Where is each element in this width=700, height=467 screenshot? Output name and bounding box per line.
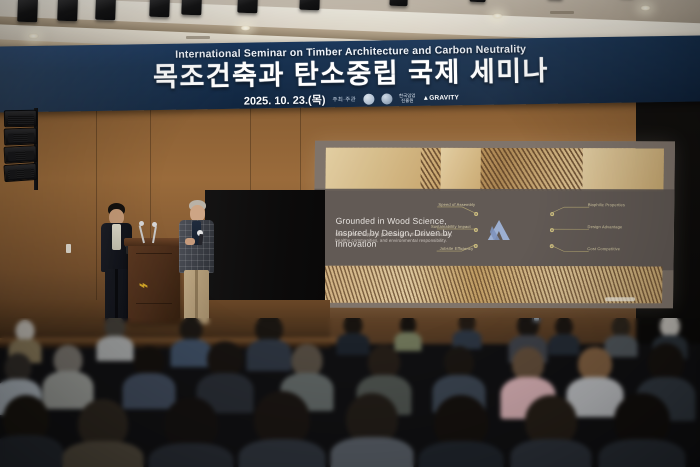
slide-photo-light-fixture [605,297,635,301]
mountain-mark-logo [484,217,514,241]
korea-forest-service-logo [363,93,374,104]
lectern-mic-head [139,221,144,226]
speaker-shirt [112,224,121,250]
audience-member [598,397,686,467]
recessed-downlight [640,5,651,11]
slide-node-dot [550,228,554,232]
audience-section [0,318,700,467]
institution-emblem: ⌁ [139,277,153,295]
slide-body-text: Mass timber supports good design, effici… [335,232,454,245]
stage-spotlight [95,0,116,20]
wood-slat-ceiling-photo [324,266,663,303]
audience-member [62,401,144,467]
banner-host-label: 주최·주관 [332,95,356,103]
audience-member [510,399,592,467]
ceiling-vent [186,36,210,39]
mass-timber-ceiling-photo [325,147,664,191]
slide-node-label-design-advantage: Design Advantage [588,224,623,229]
trouser-gap [195,270,198,323]
audience-member [0,399,64,467]
slide-node-label-jobsite-efficiency: Jobsite Efficiency [440,246,474,251]
projection-screen: Grounded in Wood Science, Inspired by De… [313,141,675,309]
slide-node-label-speed-of-assembly: Speed of Assembly [438,202,475,207]
stage-spotlight [237,0,258,13]
slide-node-dot [474,244,478,248]
stage-spotlight [149,0,170,17]
audience-member [122,343,176,409]
gravity-logo: ▲GRAVITY [423,94,460,102]
ceiling-vent [550,11,574,14]
recessed-downlight [28,33,39,39]
slide-node-label-biophilic-properties: Biophilic Properties [588,202,625,207]
slide-node-label-cost-competitive: Cost Competitive [587,246,620,251]
slide-node-dot [550,244,554,248]
audience-member [238,395,326,467]
stage-spotlight [181,0,202,15]
slide-node-dot [474,228,478,232]
seminar-photo-scene: International Seminar on Timber Architec… [0,0,700,467]
seminar-banner: International Seminar on Timber Architec… [0,35,700,112]
slide-node-dot [550,212,554,216]
presentation-slide: Grounded in Wood Science, Inspired by De… [313,141,675,309]
stage-spotlight [389,0,408,6]
lectern-mic-head [152,222,157,227]
line-array-loudspeaker [4,110,38,190]
audience-member [330,397,414,467]
trouser-gap [115,269,118,321]
stage-spotlight [57,0,78,21]
stage-spotlight [470,0,486,2]
audience-member [418,399,504,467]
forest-welfare-institute-logo [381,93,392,104]
wooden-lectern: ⌁ [128,243,180,323]
stage-spotlight [17,0,38,22]
smartphone-recording [532,318,541,323]
speaker-hand [185,238,195,245]
audience-member [148,401,234,467]
institute-logo-text: 한국임업진흥원 [399,93,416,103]
stage-spotlight [299,0,320,10]
slide-node-dot [474,212,478,216]
slide-node-label-sustainability-impact: Sustainability Impact [431,224,471,229]
recessed-downlight [492,13,503,19]
recessed-downlight [240,25,251,31]
slide-content-panel: Grounded in Wood Science, Inspired by De… [313,189,674,270]
speaker-right-checked-blazer [176,200,220,328]
banner-date: 2025. 10. 23.(목) [244,91,326,108]
